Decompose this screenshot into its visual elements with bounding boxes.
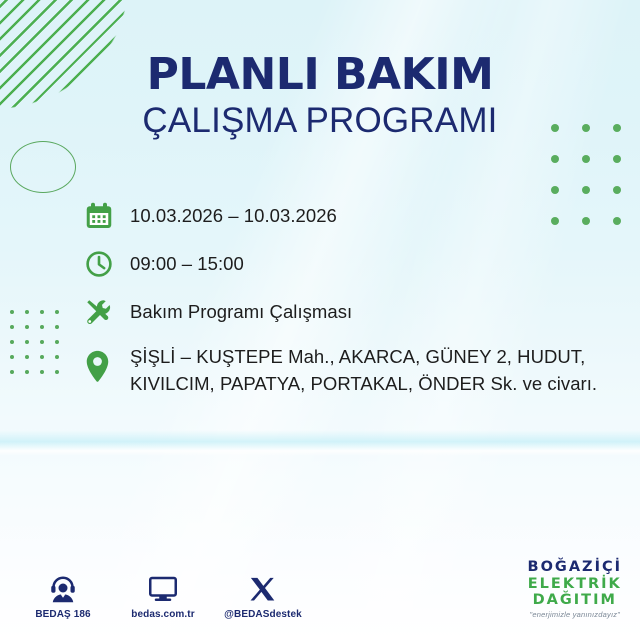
contact-website-label: bedas.com.tr [124, 609, 202, 620]
location-text: ŞİŞLİ – KUŞTEPE Mah., AKARCA, GÜNEY 2, H… [130, 344, 597, 398]
contact-x[interactable]: @BEDASdestek [224, 568, 302, 620]
date-range-text: 10.03.2026 – 10.03.2026 [130, 200, 337, 230]
info-row-worktype: Bakım Programı Çalışması [84, 296, 624, 327]
bogazici-elektrik-dagitim-logo: BOĞAZİÇİ ELEKTRİK DAĞITIM "enerjimizle y… [528, 560, 622, 618]
info-row-time: 09:00 – 15:00 [84, 248, 624, 279]
calendar-icon [84, 200, 130, 231]
background-wave [0, 430, 640, 456]
info-rows: 10.03.2026 – 10.03.2026 09:00 – 15:00 Ba… [84, 200, 624, 398]
contact-phone-label: BEDAŞ 186 [24, 609, 102, 620]
dot-grid-left-decoration [10, 310, 70, 385]
x-twitter-icon [224, 568, 302, 604]
planned-maintenance-poster: PLANLI BAKIM ÇALIŞMA PROGRAMI [0, 0, 640, 640]
clock-icon [84, 248, 130, 279]
logo-line-3: DAĞITIM [528, 593, 622, 608]
time-range-text: 09:00 – 15:00 [130, 248, 244, 278]
contact-website[interactable]: bedas.com.tr [124, 568, 202, 620]
logo-line-1: BOĞAZİÇİ [528, 560, 622, 575]
location-text-line2: KIVILCIM, PAPATYA, PORTAKAL, ÖNDER Sk. v… [130, 373, 597, 394]
logo-line-2: ELEKTRİK [528, 577, 622, 592]
contact-phone[interactable]: BEDAŞ 186 [24, 568, 102, 620]
circle-outline-decoration [10, 141, 76, 193]
contact-items: BEDAŞ 186 bedas.com.tr [24, 568, 302, 620]
page-subtitle: ÇALIŞMA PROGRAMI [0, 100, 640, 141]
logo-tagline: "enerjimizle yanınızdayız" [528, 611, 622, 619]
poster-header: PLANLI BAKIM ÇALIŞMA PROGRAMI [0, 52, 640, 141]
support-headset-icon [24, 568, 102, 604]
tools-icon [84, 296, 130, 327]
worktype-text: Bakım Programı Çalışması [130, 296, 352, 326]
poster-footer: BEDAŞ 186 bedas.com.tr [0, 554, 640, 624]
contact-x-label: @BEDASdestek [224, 609, 302, 620]
info-row-date: 10.03.2026 – 10.03.2026 [84, 200, 624, 231]
page-title: PLANLI BAKIM [0, 52, 640, 98]
info-row-location: ŞİŞLİ – KUŞTEPE Mah., AKARCA, GÜNEY 2, H… [84, 344, 624, 398]
monitor-icon [124, 568, 202, 604]
location-pin-icon [84, 344, 130, 384]
location-text-line1: ŞİŞLİ – KUŞTEPE Mah., AKARCA, GÜNEY 2, H… [130, 346, 585, 367]
